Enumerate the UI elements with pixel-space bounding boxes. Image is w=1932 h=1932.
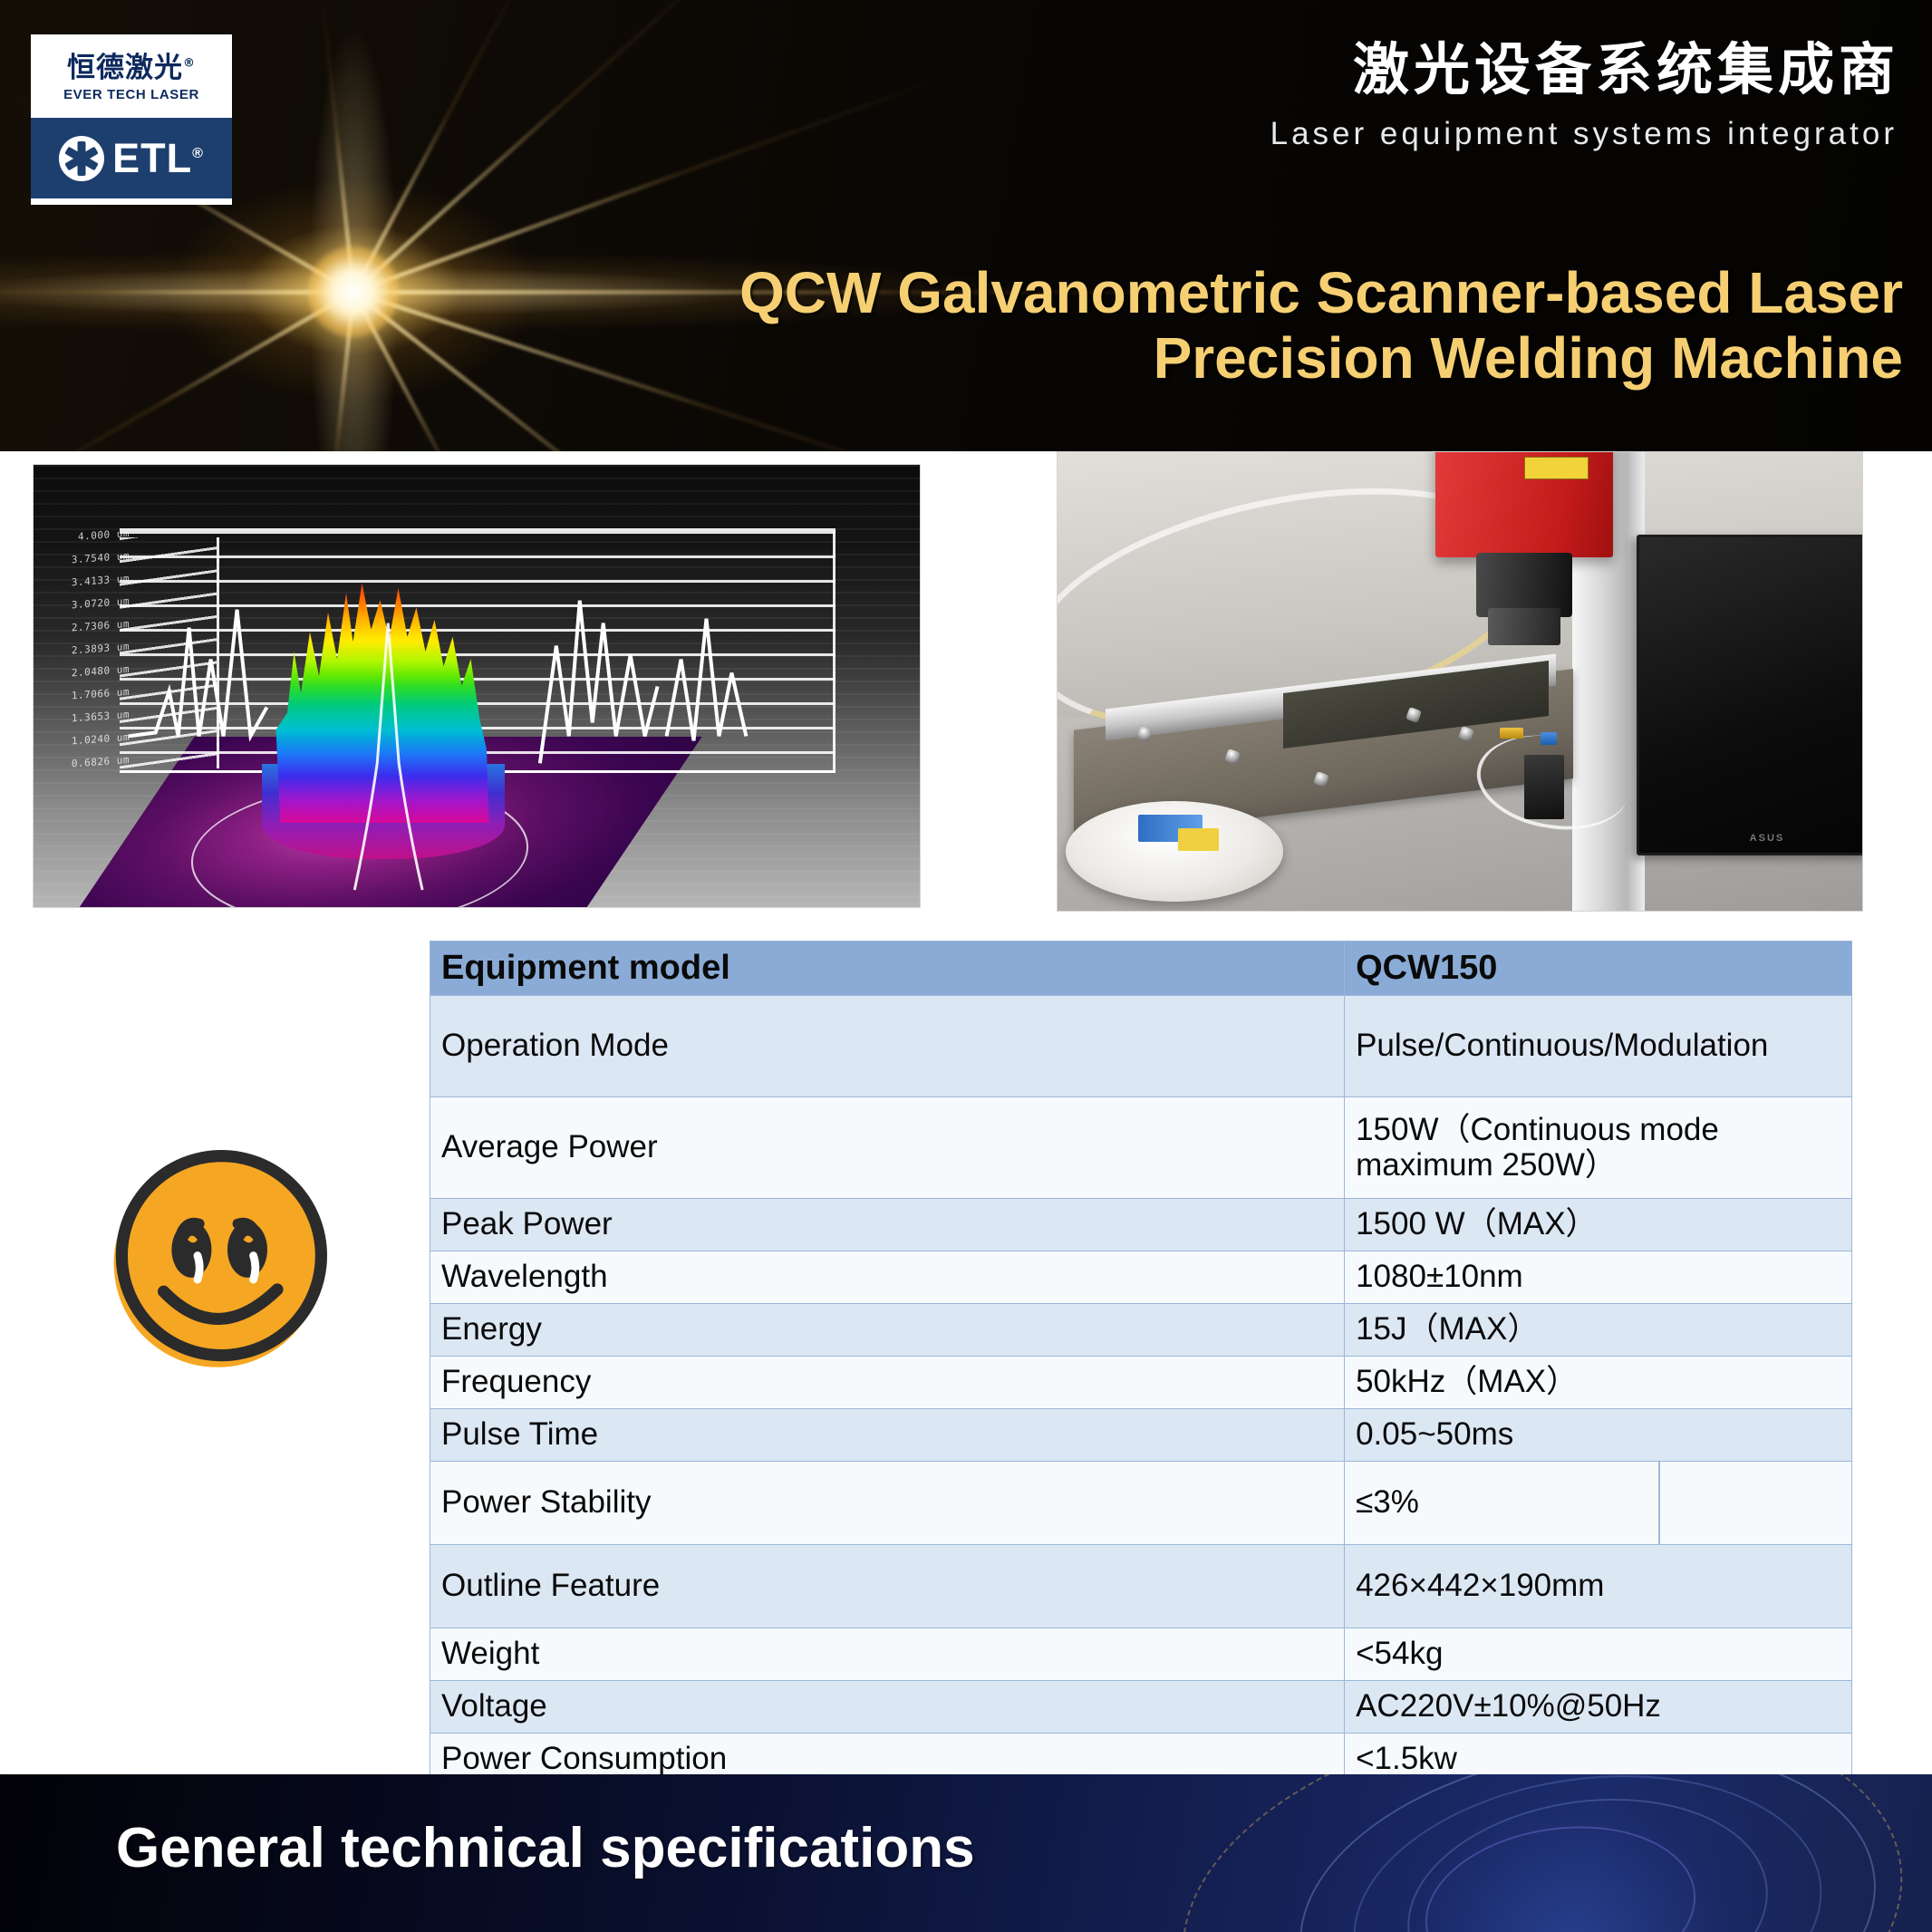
specifications-table: Equipment model QCW150 Operation Mode Pu… bbox=[430, 941, 1852, 1839]
beam-profile-image: 4.000 um 3.7540 um 3.4133 um 3.0720 um 2… bbox=[33, 464, 921, 908]
spec-key: Pulse Time bbox=[430, 1408, 1345, 1461]
monitor-screen bbox=[1637, 535, 1863, 855]
table-row: Wavelength 1080±10nm bbox=[430, 1251, 1852, 1303]
table-row: Average Power 150W（Continuous mode maxim… bbox=[430, 1096, 1852, 1198]
spec-value: 15J（MAX） bbox=[1345, 1303, 1852, 1356]
table-header-row: Equipment model QCW150 bbox=[430, 942, 1852, 996]
logo-abbreviation: ETL® bbox=[112, 138, 204, 179]
table-row: Voltage AC220V±10%@50Hz bbox=[430, 1680, 1852, 1733]
spec-key: Wavelength bbox=[430, 1251, 1345, 1303]
table-row: Pulse Time 0.05~50ms bbox=[430, 1408, 1852, 1461]
spec-value: 0.05~50ms bbox=[1345, 1408, 1852, 1461]
logo-chinese-name: 恒德激光® bbox=[67, 54, 196, 82]
logo-upper-block: 恒德激光® EVER TECH LASER bbox=[31, 34, 232, 118]
logo-lower-block: ETL® bbox=[31, 118, 232, 205]
spec-key: Outline Feature bbox=[430, 1544, 1345, 1628]
table-row-power-stability: Power Stability ≤3% bbox=[430, 1461, 1852, 1544]
registered-mark-icon: ® bbox=[192, 146, 204, 161]
footer-title: General technical specifications bbox=[116, 1816, 975, 1880]
beam-profile-cross-section-curves bbox=[34, 465, 920, 908]
starburst-icon bbox=[308, 246, 399, 337]
smiley-face-icon bbox=[98, 1140, 337, 1379]
spec-value: 426×442×190mm bbox=[1345, 1544, 1852, 1628]
light-ray-icon bbox=[0, 290, 353, 295]
tagline-chinese: 激光设备系统集成商 bbox=[1353, 40, 1899, 99]
table-row: Peak Power 1500 W（MAX） bbox=[430, 1198, 1852, 1251]
header-banner: 恒德激光® EVER TECH LASER ETL® 激光设备系统集成商 Las… bbox=[0, 0, 1932, 451]
spec-key: Weight bbox=[430, 1628, 1345, 1680]
company-logo: 恒德激光® EVER TECH LASER ETL® bbox=[31, 34, 232, 205]
spec-value: <54kg bbox=[1345, 1628, 1852, 1680]
footer-tech-graphic bbox=[935, 1774, 1932, 1932]
page-title: QCW Galvanometric Scanner-based Laser Pr… bbox=[616, 261, 1903, 391]
slide-page: 恒德激光® EVER TECH LASER ETL® 激光设备系统集成商 Las… bbox=[0, 0, 1932, 1932]
table-header-value: QCW150 bbox=[1345, 942, 1852, 996]
spec-value: 150W（Continuous mode maximum 250W） bbox=[1345, 1096, 1852, 1198]
table-header-key: Equipment model bbox=[430, 942, 1345, 996]
blue-fitting-icon bbox=[1541, 732, 1557, 745]
spec-value: AC220V±10%@50Hz bbox=[1345, 1680, 1852, 1733]
table-row: Weight <54kg bbox=[430, 1628, 1852, 1680]
spec-value: 1080±10nm bbox=[1345, 1251, 1852, 1303]
spec-key: Average Power bbox=[430, 1096, 1345, 1198]
footer-bar: General technical specifications bbox=[0, 1774, 1932, 1932]
spec-value: Pulse/Continuous/Modulation bbox=[1345, 995, 1852, 1096]
warning-label-icon bbox=[1524, 457, 1589, 479]
machine-photo: ASUS bbox=[1057, 451, 1863, 912]
spec-value-extra bbox=[1659, 1462, 1852, 1544]
logo-abbr-text: ETL bbox=[112, 135, 192, 181]
registered-mark-icon: ® bbox=[183, 56, 196, 70]
spec-key: Power Stability bbox=[430, 1461, 1345, 1544]
table-row: Operation Mode Pulse/Continuous/Modulati… bbox=[430, 995, 1852, 1096]
logo-english-name: EVER TECH LASER bbox=[63, 87, 199, 102]
disc-label-secondary-icon bbox=[1178, 828, 1218, 851]
spec-key: Operation Mode bbox=[430, 995, 1345, 1096]
logo-chinese-text: 恒德激光 bbox=[67, 52, 183, 84]
focus-lens bbox=[1488, 608, 1560, 644]
tagline-english: Laser equipment systems integrator bbox=[1270, 116, 1898, 152]
table-row: Energy 15J（MAX） bbox=[430, 1303, 1852, 1356]
brass-fitting-icon bbox=[1500, 728, 1523, 739]
spec-value: 50kHz（MAX） bbox=[1345, 1356, 1852, 1408]
table-row: Outline Feature 426×442×190mm bbox=[430, 1544, 1852, 1628]
spec-value-split: ≤3% bbox=[1345, 1461, 1852, 1544]
spec-value: ≤3% bbox=[1345, 1462, 1659, 1544]
asterisk-icon bbox=[59, 136, 104, 181]
spec-value: 1500 W（MAX） bbox=[1345, 1198, 1852, 1251]
spec-key: Frequency bbox=[430, 1356, 1345, 1408]
spec-key: Voltage bbox=[430, 1680, 1345, 1733]
monitor-brand-label: ASUS bbox=[1750, 833, 1785, 844]
table-row: Frequency 50kHz（MAX） bbox=[430, 1356, 1852, 1408]
spec-key: Peak Power bbox=[430, 1198, 1345, 1251]
spec-key: Energy bbox=[430, 1303, 1345, 1356]
